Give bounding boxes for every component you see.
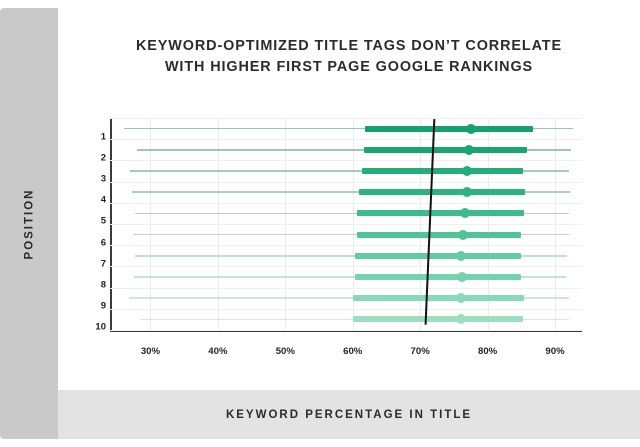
y-axis-tick-label: 1 <box>80 131 106 142</box>
chart-screenshot: POSITION KEYWORD-OPTIMIZED TITLE TAGS DO… <box>0 0 640 447</box>
y-axis-tick-label: 8 <box>80 280 106 291</box>
y-axis-tick-label: 7 <box>80 258 106 269</box>
median-marker <box>464 145 474 155</box>
gridline-horizontal <box>110 266 582 267</box>
median-marker <box>456 251 466 261</box>
chart-title: KEYWORD-OPTIMIZED TITLE TAGS DON’T CORRE… <box>58 36 640 78</box>
gridline-horizontal <box>110 139 582 140</box>
x-axis-tick-label: 60% <box>343 346 362 357</box>
box-bar <box>357 210 524 216</box>
median-marker <box>456 293 466 303</box>
box-bar <box>355 253 521 259</box>
gridline-horizontal <box>110 118 582 119</box>
x-axis-tick-label: 90% <box>545 346 564 357</box>
median-marker <box>462 187 472 197</box>
gridline-horizontal <box>110 309 582 310</box>
x-axis-title-band: KEYWORD PERCENTAGE IN TITLE <box>58 390 640 439</box>
median-marker <box>462 166 472 176</box>
box-bar <box>353 295 524 301</box>
gridline-horizontal <box>110 288 582 289</box>
x-axis-tick-label: 40% <box>208 346 227 357</box>
box-bar <box>357 232 521 238</box>
y-axis-tick-labels: 12345678910 <box>72 118 106 330</box>
box-bar <box>359 189 525 195</box>
chart-title-line-1: KEYWORD-OPTIMIZED TITLE TAGS DON’T CORRE… <box>136 38 562 54</box>
gridline-horizontal <box>110 203 582 204</box>
x-axis-tick-label: 70% <box>411 346 430 357</box>
median-marker <box>457 272 467 282</box>
box-bar <box>355 274 522 280</box>
y-axis-tick-label: 9 <box>80 301 106 312</box>
y-axis-title: POSITION <box>23 188 35 259</box>
y-axis-tick-label: 6 <box>80 237 106 248</box>
y-axis-tick-label: 4 <box>80 195 106 206</box>
x-axis-tick-label: 80% <box>478 346 497 357</box>
gridline-horizontal <box>110 224 582 225</box>
x-axis-tick-label: 50% <box>276 346 295 357</box>
chart-title-line-2: WITH HIGHER FIRST PAGE GOOGLE RANKINGS <box>58 57 640 78</box>
median-marker <box>460 208 470 218</box>
gridline-horizontal <box>110 245 582 246</box>
chart-card: KEYWORD-OPTIMIZED TITLE TAGS DON’T CORRE… <box>58 8 640 390</box>
y-axis-tick-label: 3 <box>80 174 106 185</box>
x-axis-title: KEYWORD PERCENTAGE IN TITLE <box>226 409 472 421</box>
gridline-horizontal <box>110 160 582 161</box>
median-marker <box>466 124 476 134</box>
plot-area <box>110 118 582 330</box>
box-bar <box>353 316 522 322</box>
median-marker <box>458 230 468 240</box>
y-axis-tick-label: 2 <box>80 152 106 163</box>
x-axis-tick-label: 30% <box>141 346 160 357</box>
y-axis-tick-label: 5 <box>80 216 106 227</box>
gridline-horizontal <box>110 182 582 183</box>
median-marker <box>456 314 466 324</box>
y-axis-title-band: POSITION <box>0 8 58 439</box>
box-bar <box>365 126 534 132</box>
gridline-horizontal <box>110 330 582 331</box>
box-bar <box>364 147 528 153</box>
y-axis-tick-label: 10 <box>80 322 106 333</box>
box-bar <box>362 168 524 174</box>
